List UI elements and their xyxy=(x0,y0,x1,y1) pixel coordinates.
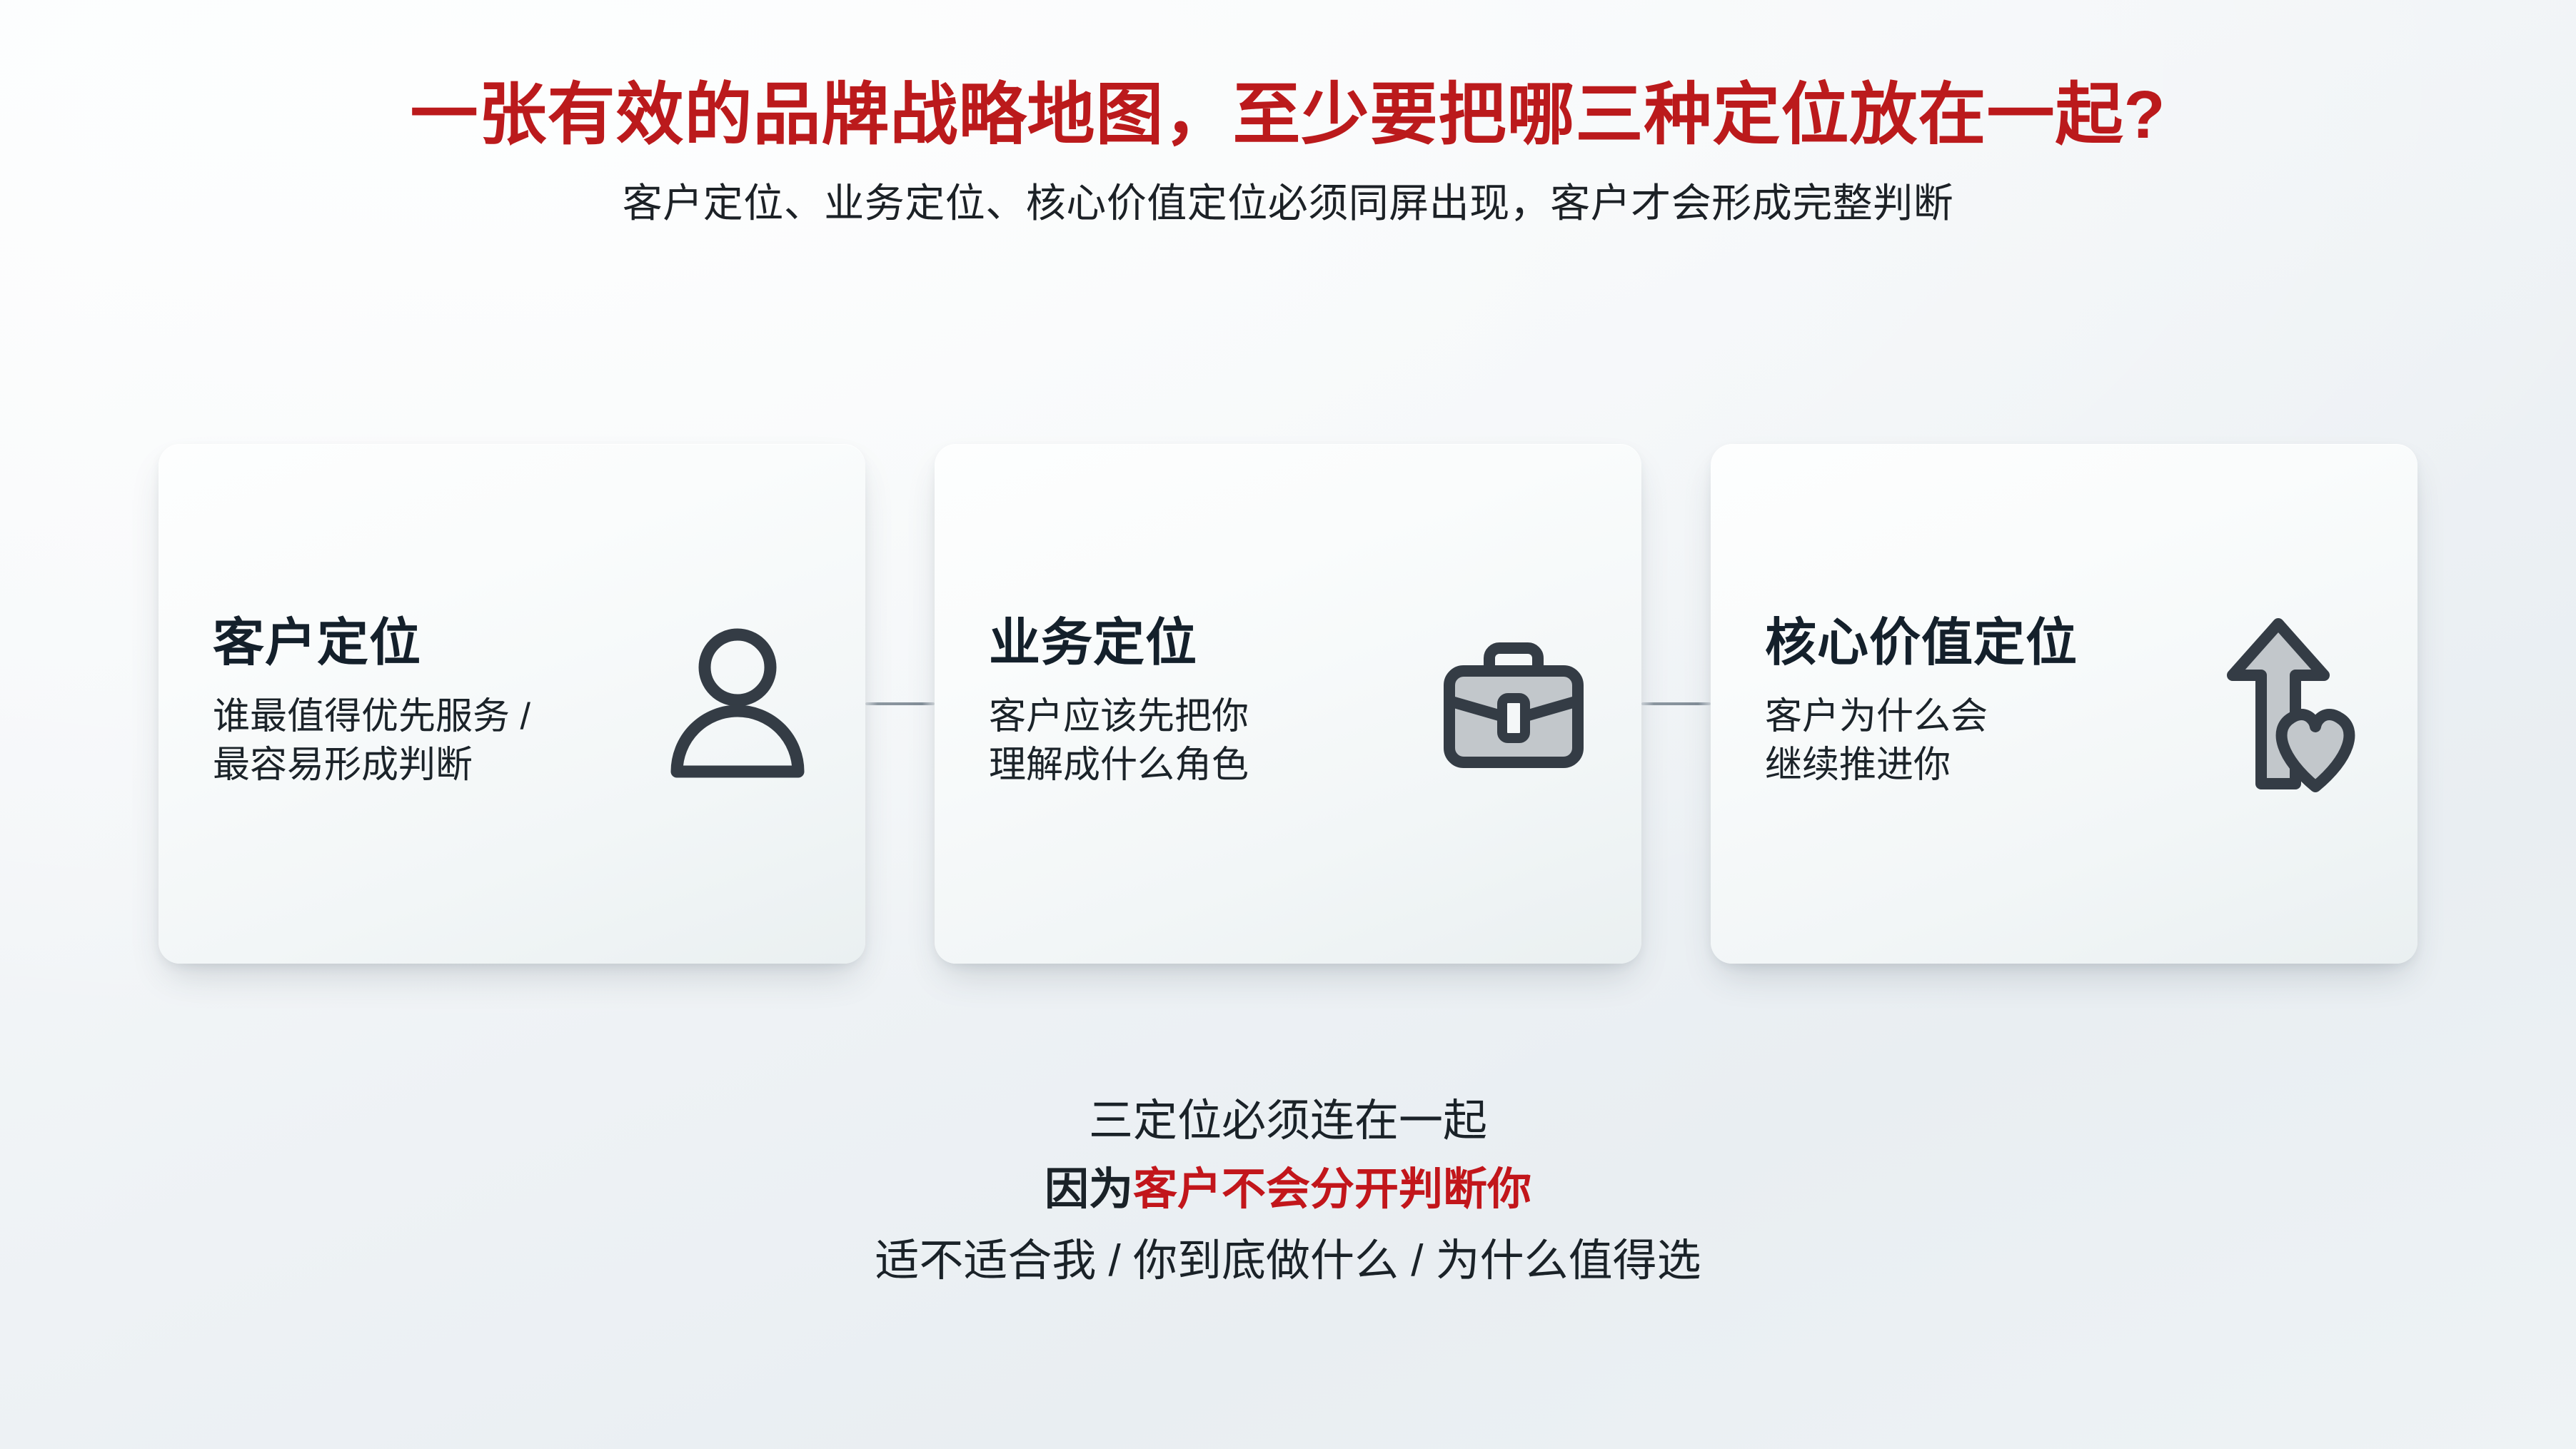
card-description: 客户为什么会 继续推进你 xyxy=(1765,693,2193,789)
card-core-value-positioning[interactable]: 核心价值定位 客户为什么会 继续推进你 xyxy=(1711,444,2417,964)
card-description-line-1: 客户应该先把你 xyxy=(989,693,1417,742)
card-title: 客户定位 xyxy=(213,617,641,669)
positioning-card-row: 客户定位 谁最值得优先服务 / 最容易形成判断 业务定位 客户应该先把你 xyxy=(159,444,2417,964)
slide-header: 一张有效的品牌战略地图，至少要把哪三种定位放在一起? 客户定位、业务定位、核心价… xyxy=(0,77,2576,229)
card-description-line-1: 谁最值得优先服务 / xyxy=(213,693,641,742)
footer-line-2-prefix: 因为 xyxy=(1045,1165,1133,1214)
slide-footer: 三定位必须连在一起 因为客户不会分开判断你 适不适合我 / 你到底做什么 / 为… xyxy=(0,1099,2576,1283)
card-title: 业务定位 xyxy=(989,617,1417,669)
card-description-line-2: 继续推进你 xyxy=(1765,742,2193,790)
card-title: 核心价值定位 xyxy=(1765,617,2193,669)
footer-line-2: 因为客户不会分开判断你 xyxy=(0,1168,2576,1212)
connector-line-1 xyxy=(865,444,935,964)
footer-line-3: 适不适合我 / 你到底做什么 / 为什么值得选 xyxy=(0,1239,2576,1283)
connector-line-2 xyxy=(1641,444,1711,964)
card-description-line-1: 客户为什么会 xyxy=(1765,693,2193,742)
card-text-block: 客户定位 谁最值得优先服务 / 最容易形成判断 xyxy=(213,617,641,789)
briefcase-icon xyxy=(1424,611,1603,797)
card-customer-positioning[interactable]: 客户定位 谁最值得优先服务 / 最容易形成判断 xyxy=(159,444,865,964)
footer-line-2-accent: 客户不会分开判断你 xyxy=(1133,1165,1531,1214)
card-description: 谁最值得优先服务 / 最容易形成判断 xyxy=(213,693,641,789)
card-description-line-2: 最容易形成判断 xyxy=(213,742,641,790)
page-title: 一张有效的品牌战略地图，至少要把哪三种定位放在一起? xyxy=(0,77,2576,153)
card-business-positioning[interactable]: 业务定位 客户应该先把你 理解成什么角色 xyxy=(935,444,1641,964)
footer-line-1: 三定位必须连在一起 xyxy=(0,1099,2576,1143)
slide-canvas: 一张有效的品牌战略地图，至少要把哪三种定位放在一起? 客户定位、业务定位、核心价… xyxy=(0,0,2576,1449)
card-text-block: 业务定位 客户应该先把你 理解成什么角色 xyxy=(989,617,1417,789)
card-description-line-2: 理解成什么角色 xyxy=(989,742,1417,790)
arrow-up-heart-icon xyxy=(2200,611,2379,797)
person-icon xyxy=(648,611,827,797)
card-description: 客户应该先把你 理解成什么角色 xyxy=(989,693,1417,789)
page-subtitle: 客户定位、业务定位、核心价值定位必须同屏出现，客户才会形成完整判断 xyxy=(0,171,2576,229)
card-text-block: 核心价值定位 客户为什么会 继续推进你 xyxy=(1765,617,2193,789)
